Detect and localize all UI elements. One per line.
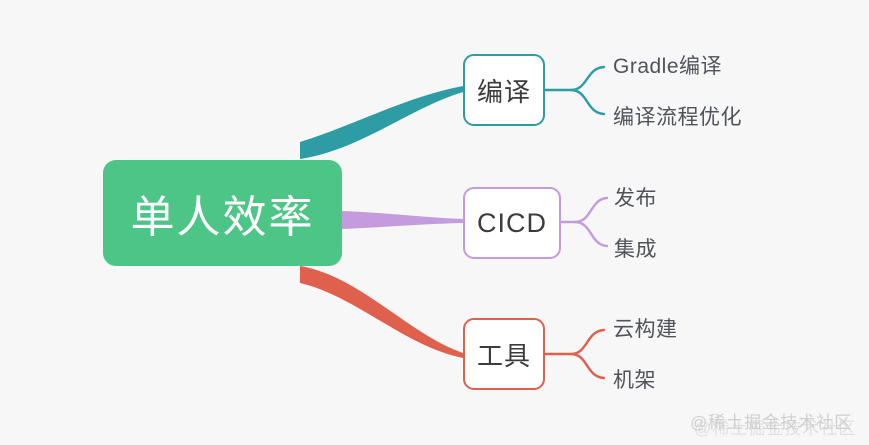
root-node-label: 单人效率 (131, 181, 315, 245)
branch-node-compile[interactable]: 编译 (463, 54, 545, 126)
watermark: @稀土掘金技术社区 (690, 408, 852, 433)
branch-node-tools-label: 工具 (477, 336, 531, 373)
branch-node-tools[interactable]: 工具 (463, 318, 545, 390)
leaf-node-rack[interactable]: 机架 (613, 364, 656, 394)
leaf-node-publish[interactable]: 发布 (614, 182, 657, 212)
connector-compile-fork (545, 67, 604, 114)
branch-node-cicd[interactable]: CICD (463, 187, 561, 259)
leaf-node-compile-flow-optimization[interactable]: 编译流程优化 (613, 101, 742, 131)
connector-root-to-compile (300, 86, 463, 159)
mindmap-canvas: 单人效率 编译 CICD 工具 Gradle编译 编译流程优化 发布 集成 云构… (0, 0, 869, 445)
connector-root-to-tools (300, 266, 463, 358)
leaf-node-gradle-compile[interactable]: Gradle编译 (613, 50, 722, 80)
branch-node-cicd-label: CICD (477, 208, 547, 239)
root-node-single-person-efficiency[interactable]: 单人效率 (103, 160, 342, 266)
leaf-node-integrate[interactable]: 集成 (614, 233, 657, 263)
connector-tools-fork (545, 330, 604, 378)
branch-node-compile-label: 编译 (477, 72, 531, 109)
leaf-node-cloud-build[interactable]: 云构建 (613, 313, 678, 343)
connector-root-to-cicd (342, 211, 463, 229)
connector-cicd-fork (561, 198, 607, 246)
